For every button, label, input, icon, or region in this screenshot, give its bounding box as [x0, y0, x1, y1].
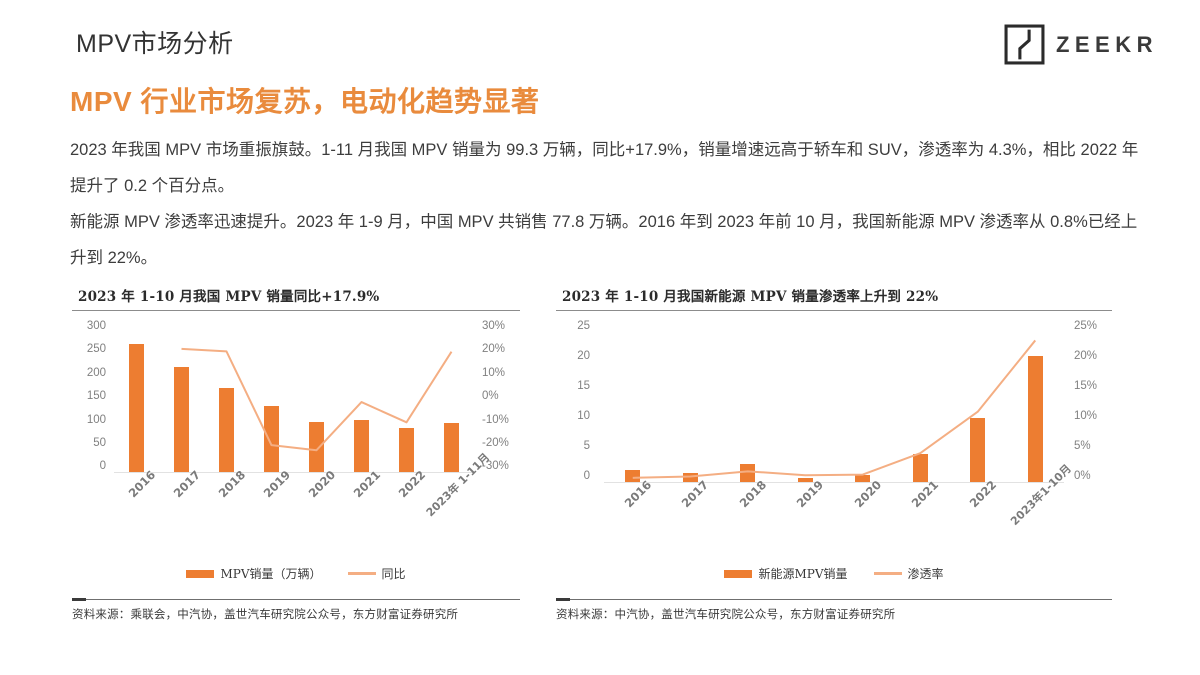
- x-tick: 2023年1-10月: [1007, 483, 1065, 553]
- x-tick: 2017: [662, 483, 720, 553]
- line-path: [633, 340, 1036, 477]
- x-tick-label: 2019: [794, 478, 827, 511]
- chart-panel-mpv-sales: 2023 年 1-10 月我国 MPV 销量同比+17.9% 300 250 2…: [72, 285, 520, 622]
- legend-item-line: 渗透率: [874, 565, 944, 582]
- x-tick: 2019: [777, 483, 835, 553]
- source-tick-mark: [556, 598, 570, 601]
- x-tick: 2018: [204, 473, 249, 543]
- page-title: MPV市场分析: [76, 24, 234, 60]
- y-tick: -20%: [482, 438, 520, 450]
- zeekr-square-mark-icon: [1004, 24, 1045, 65]
- x-tick-label: 2021: [350, 468, 383, 501]
- y-tick: 250: [72, 344, 106, 356]
- logo-wordmark: ZEEKR: [1056, 32, 1158, 58]
- legend-swatch-bar-icon: [724, 570, 752, 578]
- body-paragraph-1: 2023 年我国 MPV 市场重振旗鼓。1-11 月我国 MPV 销量为 99.…: [70, 132, 1145, 204]
- chart-panel-nev-penetration: 2023 年 1-10 月我国新能源 MPV 销量渗透率上升到 22% 25 2…: [556, 285, 1112, 622]
- source-note: 资料来源：乘联会，中汽协，盖世汽车研究院公众号，东方财富证券研究所: [72, 606, 520, 622]
- y-tick: 100: [72, 415, 106, 427]
- chart-legend: MPV销量（万辆） 同比: [72, 565, 520, 582]
- x-tick-label: 2022: [395, 468, 428, 501]
- chart-title: 2023 年 1-10 月我国新能源 MPV 销量渗透率上升到 22%: [556, 285, 1112, 305]
- x-tick: 2022: [949, 483, 1007, 553]
- x-tick-label: 2018: [736, 478, 769, 511]
- chart-title-divider: [72, 310, 520, 311]
- legend-swatch-line-icon: [348, 572, 376, 575]
- y-tick: -10%: [482, 415, 520, 427]
- source-divider: [556, 599, 1112, 600]
- y-tick: 300: [72, 321, 106, 333]
- x-tick-label: 2020: [305, 468, 338, 501]
- y-tick: 30%: [482, 321, 520, 333]
- x-tick-label: 2016: [621, 478, 654, 511]
- legend-swatch-line-icon: [874, 572, 902, 575]
- body-copy: 2023 年我国 MPV 市场重振旗鼓。1-11 月我国 MPV 销量为 99.…: [70, 132, 1145, 276]
- headline: MPV 行业市场复苏，电动化趋势显著: [70, 80, 539, 120]
- y-tick: 20: [556, 351, 590, 363]
- legend-label: 同比: [382, 565, 406, 582]
- legend-item-line: 同比: [348, 565, 406, 582]
- y-tick: 0%: [482, 391, 520, 403]
- zeekr-logo: ZEEKR: [1004, 24, 1158, 65]
- y-axis-right-ticks: 25% 20% 15% 10% 5% 0%: [1074, 321, 1112, 483]
- x-tick-label: 2017: [679, 478, 712, 511]
- x-tick: 2020: [834, 483, 892, 553]
- y-tick: 20%: [482, 344, 520, 356]
- x-tick: 2021: [892, 483, 950, 553]
- legend-label: MPV销量（万辆）: [220, 565, 321, 582]
- plot-area-wrapper: 25 20 15 10 5 0 25% 20% 15% 10% 5% 0%: [556, 321, 1112, 483]
- x-tick-label: 2016: [125, 468, 158, 501]
- legend-item-bar: 新能源MPV销量: [724, 565, 847, 582]
- x-axis-ticks: 20162017201820192020202120222023年 1-11月: [114, 473, 474, 543]
- y-tick: 10: [556, 411, 590, 423]
- y-tick: 15: [556, 381, 590, 393]
- legend-label: 新能源MPV销量: [758, 565, 847, 582]
- x-tick: 2020: [294, 473, 339, 543]
- source-tick-mark: [72, 598, 86, 601]
- legend-item-bar: MPV销量（万辆）: [186, 565, 321, 582]
- plot-area: [604, 321, 1064, 483]
- x-tick: 2019: [249, 473, 294, 543]
- line-series: [114, 321, 474, 473]
- y-tick: 5: [556, 441, 590, 453]
- y-axis-left-ticks: 25 20 15 10 5 0: [556, 321, 590, 483]
- y-tick: 200: [72, 368, 106, 380]
- x-tick: 2017: [159, 473, 204, 543]
- y-tick: 5%: [1074, 441, 1112, 453]
- line-path: [182, 349, 452, 450]
- legend-swatch-bar-icon: [186, 570, 214, 578]
- x-tick: 2016: [114, 473, 159, 543]
- y-tick: 50: [72, 438, 106, 450]
- y-tick: 150: [72, 391, 106, 403]
- plot-area-wrapper: 300 250 200 150 100 50 0 30% 20% 10% 0% …: [72, 321, 520, 473]
- x-tick: 2016: [604, 483, 662, 553]
- y-tick: 10%: [1074, 411, 1112, 423]
- slide-root: MPV市场分析 ZEEKR MPV 行业市场复苏，电动化趋势显著 2023 年我…: [0, 0, 1200, 675]
- x-tick-label: 2021: [909, 478, 942, 511]
- y-tick: 25: [556, 321, 590, 333]
- line-series: [604, 321, 1064, 483]
- y-tick: 25%: [1074, 321, 1112, 333]
- x-tick-label: 2022: [966, 478, 999, 511]
- y-tick: 0: [72, 461, 106, 473]
- y-tick: 15%: [1074, 381, 1112, 393]
- body-paragraph-2: 新能源 MPV 渗透率迅速提升。2023 年 1-9 月，中国 MPV 共销售 …: [70, 204, 1145, 276]
- x-tick-label: 2018: [215, 468, 248, 501]
- chart-title: 2023 年 1-10 月我国 MPV 销量同比+17.9%: [72, 285, 520, 305]
- plot-area: [114, 321, 474, 473]
- y-tick: 0: [556, 471, 590, 483]
- x-axis-ticks: 20162017201820192020202120222023年1-10月: [604, 483, 1064, 553]
- x-tick: 2023年 1-11月: [429, 473, 474, 543]
- x-tick-label: 2019: [260, 468, 293, 501]
- y-axis-right-ticks: 30% 20% 10% 0% -10% -20% -30%: [482, 321, 520, 473]
- y-tick: 0%: [1074, 471, 1112, 483]
- y-tick: 10%: [482, 368, 520, 380]
- y-axis-left-ticks: 300 250 200 150 100 50 0: [72, 321, 106, 473]
- x-tick-label: 2017: [170, 468, 203, 501]
- x-tick: 2021: [339, 473, 384, 543]
- legend-label: 渗透率: [908, 565, 944, 582]
- x-tick: 2018: [719, 483, 777, 553]
- source-note: 资料来源：中汽协，盖世汽车研究院公众号，东方财富证券研究所: [556, 606, 1112, 622]
- source-divider: [72, 599, 520, 600]
- chart-legend: 新能源MPV销量 渗透率: [556, 565, 1112, 582]
- chart-title-divider: [556, 310, 1112, 311]
- y-tick: 20%: [1074, 351, 1112, 363]
- x-tick-label: 2020: [851, 478, 884, 511]
